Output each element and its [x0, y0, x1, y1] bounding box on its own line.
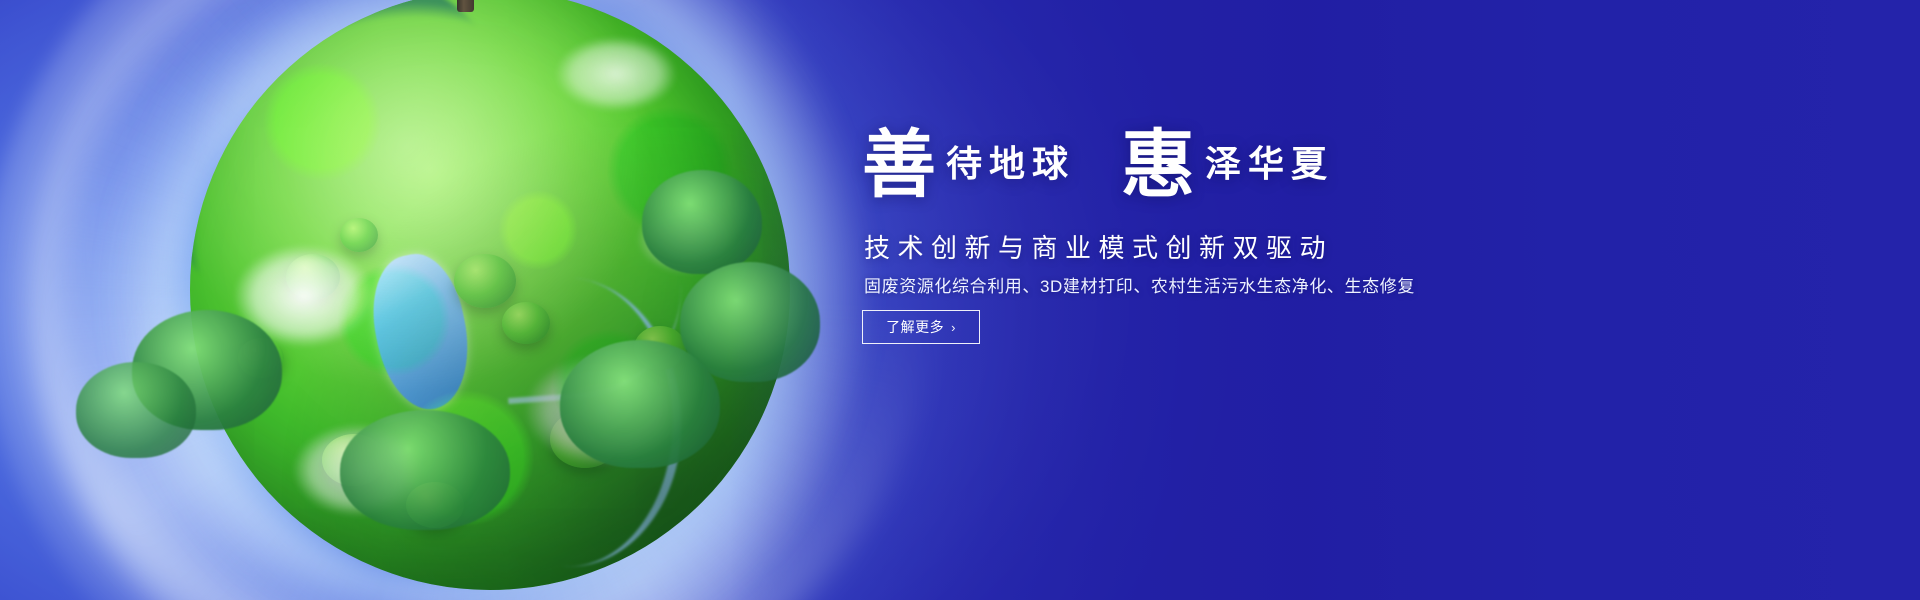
planet-artwork [40, 0, 900, 600]
bush-icon [502, 302, 550, 344]
headline-plain-2: 泽华夏 [1205, 143, 1334, 185]
hero-banner: 善待地球惠泽华夏 技术创新与商业模式创新双驱动 固废资源化综合利用、3D建材打印… [0, 0, 1920, 600]
headline-brush-char-2: 惠 [1121, 122, 1195, 208]
learn-more-label: 了解更多 [886, 317, 944, 337]
forest-rim-icon [190, 0, 526, 338]
headline-brush-char-1: 善 [862, 122, 936, 208]
bush-icon [340, 218, 378, 252]
hero-content: 善待地球惠泽华夏 技术创新与商业模式创新双驱动 固废资源化综合利用、3D建材打印… [862, 0, 1602, 600]
rim-tree-icon [560, 340, 720, 468]
cloud-icon [538, 26, 694, 122]
learn-more-button[interactable]: 了解更多 › [862, 310, 980, 344]
rim-tree-icon [642, 170, 762, 274]
chevron-right-icon: › [951, 321, 956, 334]
headline-plain-1: 待地球 [946, 143, 1075, 185]
rim-tree-icon [76, 362, 196, 458]
large-tree-icon [340, 0, 590, 12]
rim-tree-icon [340, 410, 510, 530]
lake-icon [361, 246, 481, 417]
hero-description: 固废资源化综合利用、3D建材打印、农村生活污水生态净化、生态修复 [864, 272, 1415, 297]
hero-subtitle: 技术创新与商业模式创新双驱动 [864, 228, 1333, 265]
page-title: 善待地球惠泽华夏 [862, 128, 1334, 202]
bush-icon [286, 254, 340, 300]
bush-icon [454, 254, 516, 308]
tree-trunk [457, 0, 474, 12]
